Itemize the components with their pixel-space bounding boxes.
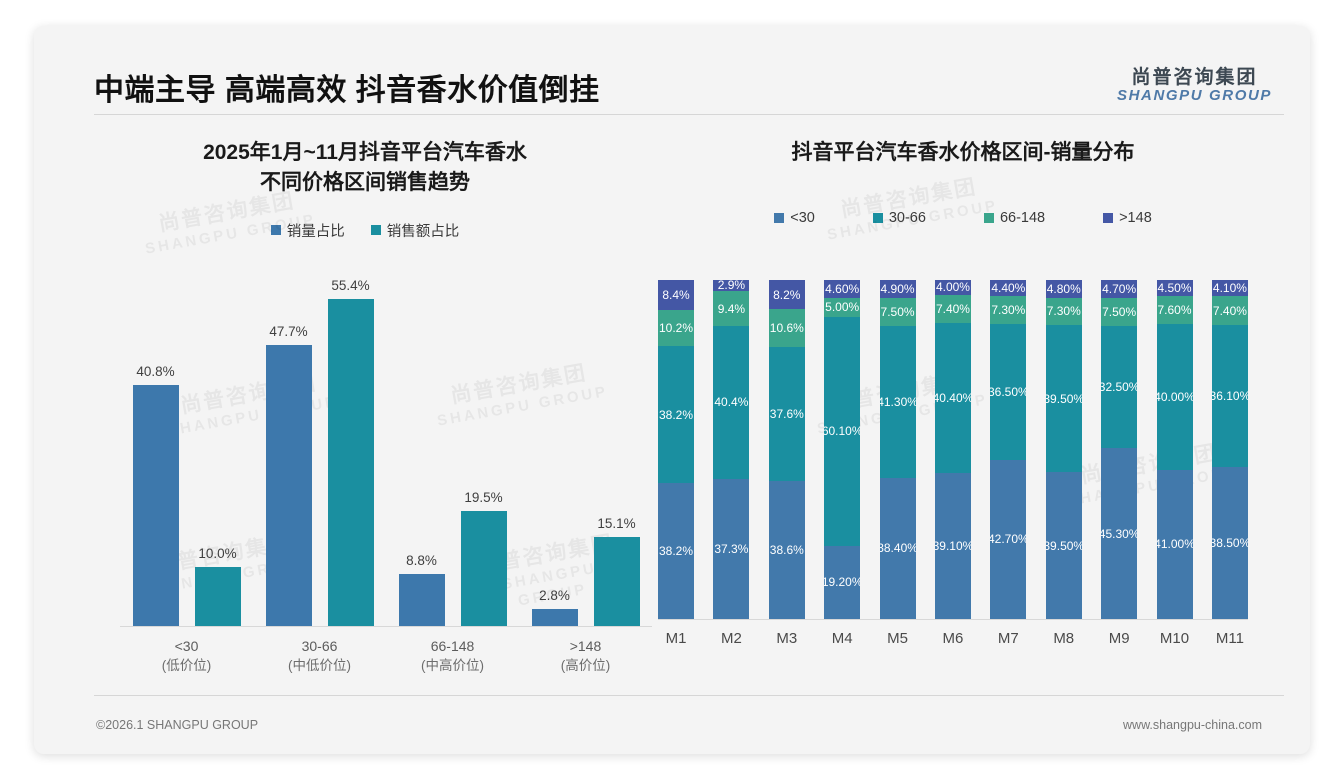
segment-value-label: 7.50% xyxy=(1102,305,1136,319)
segment-value-label: 4.00% xyxy=(936,280,970,294)
stacked-bar-segment[interactable]: 10.2% xyxy=(658,310,694,346)
stacked-bar-segment[interactable]: 19.20% xyxy=(824,546,860,619)
legend-label: 30-66 xyxy=(889,210,926,226)
stacked-bar-segment[interactable]: 41.00% xyxy=(1157,470,1193,619)
stacked-bar-segment[interactable]: 7.50% xyxy=(880,298,916,326)
stacked-bar-segment[interactable]: 38.50% xyxy=(1212,467,1248,619)
segment-value-label: 60.10% xyxy=(824,424,860,438)
segment-value-label: 7.40% xyxy=(936,302,970,316)
x-axis-tick-sublabel: (高价位) xyxy=(519,656,652,676)
stacked-bar-segment[interactable]: 10.6% xyxy=(769,309,805,347)
stacked-bar-segment[interactable]: 38.2% xyxy=(658,483,694,619)
stacked-bar-segment[interactable]: 39.50% xyxy=(1046,472,1082,619)
stacked-bar-column[interactable]: 4.40%7.30%36.50%42.70% xyxy=(990,280,1026,619)
segment-value-label: 41.00% xyxy=(1157,537,1193,551)
right-chart-panel: 抖音平台汽车香水价格区间-销量分布 <3030-6666-148>148 尚普咨… xyxy=(634,122,1274,722)
bar-value-label: 8.8% xyxy=(406,553,437,568)
page-title: 中端主导 高端高效 抖音香水价值倒挂 xyxy=(94,76,600,106)
segment-value-label: 10.2% xyxy=(659,321,693,335)
segment-value-label: 38.6% xyxy=(770,543,804,557)
stacked-bar-segment[interactable]: 4.90% xyxy=(880,280,916,298)
stacked-bar-column[interactable]: 8.4%10.2%38.2%38.2% xyxy=(658,280,694,619)
bar-value-label: 2.8% xyxy=(539,588,570,603)
stacked-bar-column[interactable]: 4.60%5.00%60.10%19.20% xyxy=(824,280,860,619)
segment-value-label: 40.40% xyxy=(935,391,971,405)
grouped-bar-plot-area: 40.8%10.0%47.7%55.4%8.8%19.5%2.8%15.1% xyxy=(120,272,652,627)
segment-value-label: 7.50% xyxy=(881,305,915,319)
bar[interactable]: 47.7% xyxy=(266,345,312,626)
bar-value-label: 15.1% xyxy=(597,516,635,531)
x-axis-tick: <30(低价位) xyxy=(120,636,253,676)
stacked-bar-segment[interactable]: 2.9% xyxy=(713,280,749,291)
legend-label: 销量占比 xyxy=(287,220,345,241)
segment-value-label: 36.10% xyxy=(1212,389,1248,403)
bar-holder: 10.0% xyxy=(195,272,241,626)
segment-value-label: 39.10% xyxy=(935,539,971,553)
bar-holder: 47.7% xyxy=(266,272,312,626)
bar-holder: 2.8% xyxy=(532,272,578,626)
stacked-bar-segment[interactable]: 9.4% xyxy=(713,291,749,326)
stacked-bar-segment[interactable]: 40.4% xyxy=(713,326,749,478)
stacked-bar-segment[interactable]: 4.80% xyxy=(1046,280,1082,298)
segment-value-label: 7.60% xyxy=(1158,303,1192,317)
legend-label: <30 xyxy=(790,210,815,226)
footer-website[interactable]: www.shangpu-china.com xyxy=(1123,718,1262,732)
segment-value-label: 38.2% xyxy=(659,544,693,558)
bar[interactable]: 10.0% xyxy=(195,567,241,626)
left-chart-title: 2025年1月~11月抖音平台汽车香水 不同价格区间销售趋势 xyxy=(96,122,634,198)
grouped-bar-x-axis: <30(低价位)30-66(中低价位)66-148(中高价位)>148(高价位) xyxy=(120,627,652,676)
segment-value-label: 42.70% xyxy=(990,532,1026,546)
stacked-bar-segment[interactable]: 4.00% xyxy=(935,280,971,295)
segment-value-label: 7.40% xyxy=(1213,304,1247,318)
slide-content: 2025年1月~11月抖音平台汽车香水 不同价格区间销售趋势 销量占比销售额占比… xyxy=(34,122,1310,722)
segment-value-label: 4.80% xyxy=(1047,282,1081,296)
x-axis-tick: 66-148(中高价位) xyxy=(386,636,519,676)
stacked-bar-segment[interactable]: 41.30% xyxy=(880,326,916,478)
segment-value-label: 39.50% xyxy=(1046,392,1082,406)
legend-swatch-icon xyxy=(873,213,883,223)
slide-header: 中端主导 高端高效 抖音香水价值倒挂 尚普咨询集团 SHANGPU GROUP xyxy=(34,26,1310,114)
stacked-bar-segment[interactable]: 40.00% xyxy=(1157,324,1193,470)
stacked-bar-segment[interactable]: 4.40% xyxy=(990,280,1026,296)
segment-value-label: 40.00% xyxy=(1157,390,1193,404)
stacked-bar-segment[interactable]: 40.40% xyxy=(935,323,971,474)
bar[interactable]: 19.5% xyxy=(461,511,507,626)
legend-item[interactable]: 66-148 xyxy=(984,210,1045,226)
stacked-bar-segment[interactable]: 39.50% xyxy=(1046,325,1082,472)
stacked-bar-segment[interactable]: 4.50% xyxy=(1157,280,1193,296)
left-chart-panel: 2025年1月~11月抖音平台汽车香水 不同价格区间销售趋势 销量占比销售额占比… xyxy=(34,122,634,722)
stacked-bar-segment[interactable]: 45.30% xyxy=(1101,448,1137,619)
left-chart-title-line1: 2025年1月~11月抖音平台汽车香水 xyxy=(203,141,527,164)
x-axis-tick-label: M3 xyxy=(769,630,805,647)
stacked-bar-segment[interactable]: 7.30% xyxy=(1046,298,1082,325)
bar-value-label: 19.5% xyxy=(464,490,502,505)
stacked-bar-column[interactable]: 4.80%7.30%39.50%39.50% xyxy=(1046,280,1082,619)
stacked-bar-segment[interactable]: 32.50% xyxy=(1101,326,1137,448)
segment-value-label: 8.2% xyxy=(773,288,800,302)
x-axis-tick-label: >148 xyxy=(570,638,602,654)
segment-value-label: 38.40% xyxy=(880,541,916,555)
x-axis-tick-sublabel: (中高价位) xyxy=(386,656,519,676)
footer-copyright: ©2026.1 SHANGPU GROUP xyxy=(96,718,258,732)
bar-group: 47.7%55.4% xyxy=(253,272,386,626)
stacked-bar-column[interactable]: 2.9%9.4%40.4%37.3% xyxy=(713,280,749,619)
stacked-bar-segment[interactable]: 36.10% xyxy=(1212,325,1248,467)
segment-value-label: 37.3% xyxy=(714,542,748,556)
stacked-bar-segment[interactable]: 37.6% xyxy=(769,347,805,481)
segment-value-label: 40.4% xyxy=(714,395,748,409)
stacked-bar-segment[interactable]: 38.6% xyxy=(769,481,805,619)
x-axis-tick-label: <30 xyxy=(175,638,199,654)
stacked-bar-segment[interactable]: 60.10% xyxy=(824,317,860,546)
bar-holder: 19.5% xyxy=(461,272,507,626)
bar[interactable]: 55.4% xyxy=(328,299,374,626)
x-axis-tick-label: M11 xyxy=(1212,630,1248,647)
x-axis-tick-label: 30-66 xyxy=(302,638,338,654)
segment-value-label: 4.70% xyxy=(1102,282,1136,296)
stacked-bar-segment[interactable]: 42.70% xyxy=(990,460,1026,619)
x-axis-tick: 30-66(中低价位) xyxy=(253,636,386,676)
brand-name-en: SHANGPU GROUP xyxy=(1117,88,1272,104)
bar[interactable]: 40.8% xyxy=(133,385,179,626)
stacked-bar-segment[interactable]: 37.3% xyxy=(713,479,749,619)
x-axis-tick-label: M8 xyxy=(1046,630,1082,647)
stacked-bar-segment[interactable]: 38.2% xyxy=(658,346,694,482)
legend-swatch-icon xyxy=(371,225,381,235)
slide-wrapper: 中端主导 高端高效 抖音香水价值倒挂 尚普咨询集团 SHANGPU GROUP … xyxy=(0,0,1340,780)
stacked-bar-segment[interactable]: 8.4% xyxy=(658,280,694,310)
stacked-bar-segment[interactable]: 4.60% xyxy=(824,280,860,298)
segment-value-label: 2.9% xyxy=(718,280,745,291)
segment-value-label: 32.50% xyxy=(1101,380,1137,394)
stacked-bar-column[interactable]: 4.10%7.40%36.10%38.50% xyxy=(1212,280,1248,619)
segment-value-label: 39.50% xyxy=(1046,539,1082,553)
watermark: 尚普咨询集团 SHANGPU GROUP xyxy=(821,171,999,245)
legend-item[interactable]: <30 xyxy=(774,210,815,226)
slide-footer: ©2026.1 SHANGPU GROUP www.shangpu-china.… xyxy=(34,718,1310,732)
segment-value-label: 10.6% xyxy=(770,321,804,335)
bar-holder: 8.8% xyxy=(399,272,445,626)
header-divider xyxy=(94,114,1284,115)
stacked-bar-segment[interactable]: 7.30% xyxy=(990,296,1026,323)
segment-value-label: 8.4% xyxy=(662,288,689,302)
legend-swatch-icon xyxy=(271,225,281,235)
stacked-bar-column[interactable]: 4.50%7.60%40.00%41.00% xyxy=(1157,280,1193,619)
segment-value-label: 7.30% xyxy=(991,303,1025,317)
segment-value-label: 7.30% xyxy=(1047,304,1081,318)
segment-value-label: 38.50% xyxy=(1212,536,1248,550)
stacked-bar-column[interactable]: 8.2%10.6%37.6%38.6% xyxy=(769,280,805,619)
legend-item[interactable]: >148 xyxy=(1103,210,1152,226)
x-axis-tick-sublabel: (中低价位) xyxy=(253,656,386,676)
segment-value-label: 4.60% xyxy=(825,282,859,296)
stacked-bar-segment[interactable]: 4.10% xyxy=(1212,280,1248,296)
stacked-bar-x-axis: M1M2M3M4M5M6M7M8M9M10M11 xyxy=(658,620,1248,647)
bar-group: 40.8%10.0% xyxy=(120,272,253,626)
bar[interactable]: 2.8% xyxy=(532,609,578,626)
segment-value-label: 36.50% xyxy=(990,385,1026,399)
bar-value-label: 10.0% xyxy=(198,546,236,561)
slide: 中端主导 高端高效 抖音香水价值倒挂 尚普咨询集团 SHANGPU GROUP … xyxy=(34,26,1310,754)
bar-holder: 15.1% xyxy=(594,272,640,626)
x-axis-tick-label: M5 xyxy=(880,630,916,647)
stacked-bar-chart: 8.4%10.2%38.2%38.2%2.9%9.4%40.4%37.3%8.2… xyxy=(658,280,1248,680)
segment-value-label: 4.90% xyxy=(881,282,915,296)
stacked-bar-segment[interactable]: 38.40% xyxy=(880,478,916,619)
legend-item[interactable]: 销量占比 xyxy=(271,220,345,241)
stacked-bar-column[interactable]: 4.00%7.40%40.40%39.10% xyxy=(935,280,971,619)
brand-name-cn: 尚普咨询集团 xyxy=(1117,68,1272,88)
brand-logo: 尚普咨询集团 SHANGPU GROUP xyxy=(1117,68,1272,106)
x-axis-tick-sublabel: (低价位) xyxy=(120,656,253,676)
left-chart-legend: 销量占比销售额占比 xyxy=(96,220,634,241)
segment-value-label: 37.6% xyxy=(770,407,804,421)
stacked-bar-column[interactable]: 4.70%7.50%32.50%45.30% xyxy=(1101,280,1137,619)
stacked-bar-segment[interactable]: 7.50% xyxy=(1101,298,1137,326)
grouped-bar-chart: 40.8%10.0%47.7%55.4%8.8%19.5%2.8%15.1% <… xyxy=(120,272,652,682)
x-axis-tick-label: M2 xyxy=(713,630,749,647)
x-axis-tick: >148(高价位) xyxy=(519,636,652,676)
legend-item[interactable]: 30-66 xyxy=(873,210,926,226)
x-axis-tick-label: M7 xyxy=(990,630,1026,647)
segment-value-label: 4.10% xyxy=(1213,281,1247,295)
bar-group: 2.8%15.1% xyxy=(519,272,652,626)
bar-holder: 40.8% xyxy=(133,272,179,626)
right-chart-legend: <3030-6666-148>148 xyxy=(652,210,1274,226)
stacked-bar-segment[interactable]: 39.10% xyxy=(935,473,971,619)
segment-value-label: 5.00% xyxy=(825,300,859,314)
legend-label: >148 xyxy=(1119,210,1152,226)
segment-value-label: 4.50% xyxy=(1158,281,1192,295)
bar[interactable]: 8.8% xyxy=(399,574,445,626)
x-axis-tick-label: 66-148 xyxy=(431,638,475,654)
segment-value-label: 9.4% xyxy=(718,302,745,316)
legend-swatch-icon xyxy=(774,213,784,223)
footer-divider xyxy=(94,695,1284,696)
stacked-bar-segment[interactable]: 7.60% xyxy=(1157,296,1193,324)
x-axis-tick-label: M10 xyxy=(1157,630,1193,647)
stacked-bar-segment[interactable]: 7.40% xyxy=(935,295,971,323)
bar-value-label: 40.8% xyxy=(136,364,174,379)
bar-holder: 55.4% xyxy=(328,272,374,626)
x-axis-tick-label: M6 xyxy=(935,630,971,647)
x-axis-tick-label: M4 xyxy=(824,630,860,647)
bar-group: 8.8%19.5% xyxy=(386,272,519,626)
segment-value-label: 19.20% xyxy=(824,575,860,589)
stacked-bar-plot-area: 8.4%10.2%38.2%38.2%2.9%9.4%40.4%37.3%8.2… xyxy=(658,280,1248,620)
legend-swatch-icon xyxy=(984,213,994,223)
bar-value-label: 55.4% xyxy=(331,278,369,293)
stacked-bar-segment[interactable]: 8.2% xyxy=(769,280,805,309)
left-chart-title-line2: 不同价格区间销售趋势 xyxy=(96,168,634,198)
right-chart-title: 抖音平台汽车香水价格区间-销量分布 xyxy=(652,122,1274,168)
stacked-bar-segment[interactable]: 7.40% xyxy=(1212,296,1248,325)
legend-swatch-icon xyxy=(1103,213,1113,223)
stacked-bar-column[interactable]: 4.90%7.50%41.30%38.40% xyxy=(880,280,916,619)
x-axis-tick-label: M1 xyxy=(658,630,694,647)
bar[interactable]: 15.1% xyxy=(594,537,640,626)
segment-value-label: 45.30% xyxy=(1101,527,1137,541)
segment-value-label: 41.30% xyxy=(880,395,916,409)
stacked-bar-segment[interactable]: 36.50% xyxy=(990,324,1026,460)
x-axis-tick-label: M9 xyxy=(1101,630,1137,647)
segment-value-label: 4.40% xyxy=(991,281,1025,295)
legend-label: 66-148 xyxy=(1000,210,1045,226)
segment-value-label: 38.2% xyxy=(659,408,693,422)
legend-item[interactable]: 销售额占比 xyxy=(371,220,460,241)
stacked-bar-segment[interactable]: 4.70% xyxy=(1101,280,1137,298)
stacked-bar-segment[interactable]: 5.00% xyxy=(824,298,860,317)
bar-value-label: 47.7% xyxy=(269,324,307,339)
legend-label: 销售额占比 xyxy=(387,220,460,241)
